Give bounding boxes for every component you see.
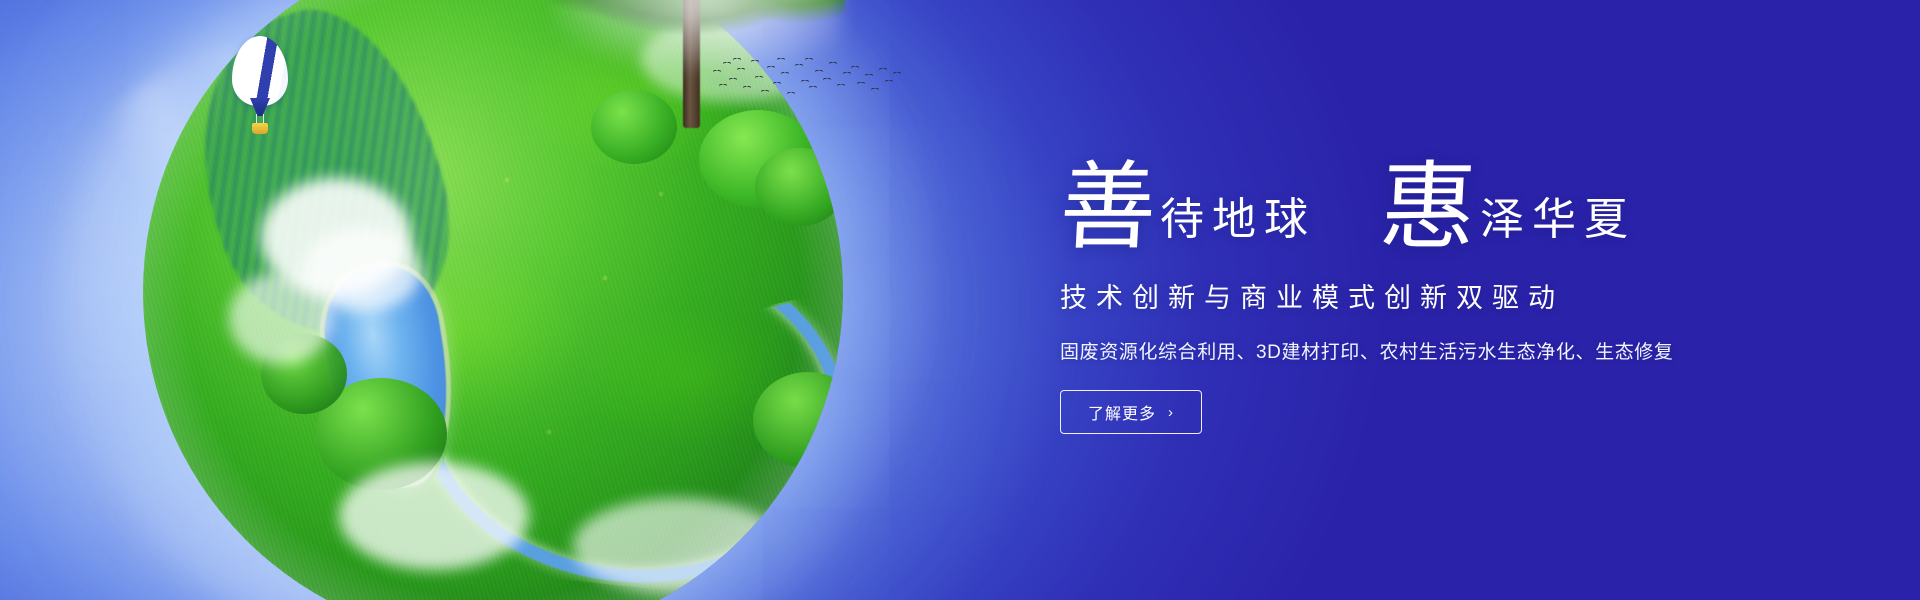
bird-icon — [758, 76, 763, 81]
bird-icon — [860, 82, 865, 87]
surface-cloud — [573, 498, 783, 594]
bird-icon — [840, 84, 845, 89]
bird-icon — [726, 62, 731, 67]
bird-icon — [804, 80, 809, 85]
bird-icon — [882, 68, 887, 73]
page-title: 善 待地球 惠 泽华夏 — [1060, 140, 1820, 252]
bird-icon — [868, 74, 873, 79]
tree-canopy — [755, 148, 843, 226]
bird-icon — [826, 78, 831, 83]
bird-icon — [722, 84, 727, 89]
bird-icon — [776, 82, 781, 87]
bird-icon — [790, 92, 795, 97]
hero-subtitle: 技术创新与商业模式创新双驱动 — [1060, 276, 1820, 315]
hero-description: 固废资源化综合利用、3D建材打印、农村生活污水生态净化、生态修复 — [1060, 337, 1820, 364]
bird-icon — [784, 72, 789, 77]
headline-rest-chars: 泽华夏 — [1480, 198, 1636, 252]
learn-more-label: 了解更多 — [1088, 400, 1156, 424]
bird-icon — [846, 72, 851, 77]
bird-icon — [812, 86, 817, 91]
headline-lead-char: 惠 — [1378, 164, 1479, 252]
headline-group-2: 惠 泽华夏 — [1380, 164, 1636, 252]
bird-icon — [818, 70, 823, 75]
surface-cloud — [339, 462, 529, 570]
bird-icon — [874, 88, 879, 93]
surface-cloud — [229, 272, 333, 364]
chevron-right-icon: › — [1168, 405, 1174, 420]
bird-icon — [798, 64, 803, 69]
bird-icon — [896, 72, 901, 77]
hero-copy: 善 待地球 惠 泽华夏 技术创新与商业模式创新双驱动 固废资源化综合利用、3D建… — [1060, 140, 1820, 434]
bird-icon — [716, 70, 721, 75]
bird-icon — [732, 78, 737, 83]
bird-icon — [764, 90, 769, 95]
bird-icon — [754, 60, 759, 65]
bird-icon — [832, 62, 837, 67]
hero-banner: 善 待地球 惠 泽华夏 技术创新与商业模式创新双驱动 固废资源化综合利用、3D建… — [0, 0, 1920, 600]
balloon-basket — [252, 123, 268, 134]
bird-icon — [854, 66, 859, 71]
learn-more-button[interactable]: 了解更多 › — [1060, 390, 1202, 434]
bird-flock — [712, 52, 902, 114]
headline-lead-char: 善 — [1058, 164, 1159, 252]
headline-group-1: 善 待地球 — [1060, 164, 1316, 252]
bird-icon — [770, 66, 775, 71]
headline-rest-chars: 待地球 — [1160, 198, 1316, 252]
bird-icon — [808, 58, 813, 63]
bird-icon — [736, 58, 741, 63]
bird-icon — [746, 86, 751, 91]
bird-icon — [780, 58, 785, 63]
hot-air-balloon-icon — [232, 36, 298, 136]
bird-icon — [888, 80, 893, 85]
balloon-envelope — [232, 36, 288, 106]
bird-icon — [740, 68, 745, 73]
